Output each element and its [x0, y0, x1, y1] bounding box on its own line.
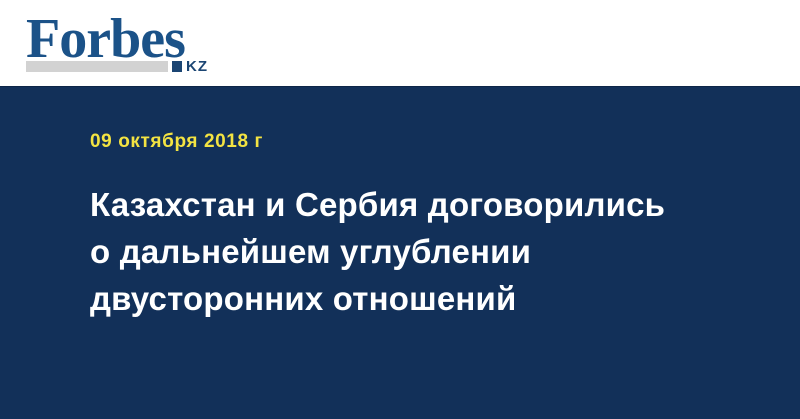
site-header: Forbes KZ [0, 0, 800, 86]
logo-country-suffix: KZ [186, 59, 208, 74]
article-hero: 09 октября 2018 г Казахстан и Сербия дог… [0, 86, 800, 419]
logo-underline-bar [26, 61, 168, 72]
forbes-kz-logo[interactable]: Forbes KZ [26, 12, 226, 74]
article-headline: Казахстан и Сербия договорились о дальне… [90, 181, 690, 322]
article-date: 09 октября 2018 г [90, 131, 263, 153]
logo-square-icon [172, 61, 182, 72]
page-root: Forbes KZ 09 октября 2018 г Казахстан и … [0, 0, 800, 419]
